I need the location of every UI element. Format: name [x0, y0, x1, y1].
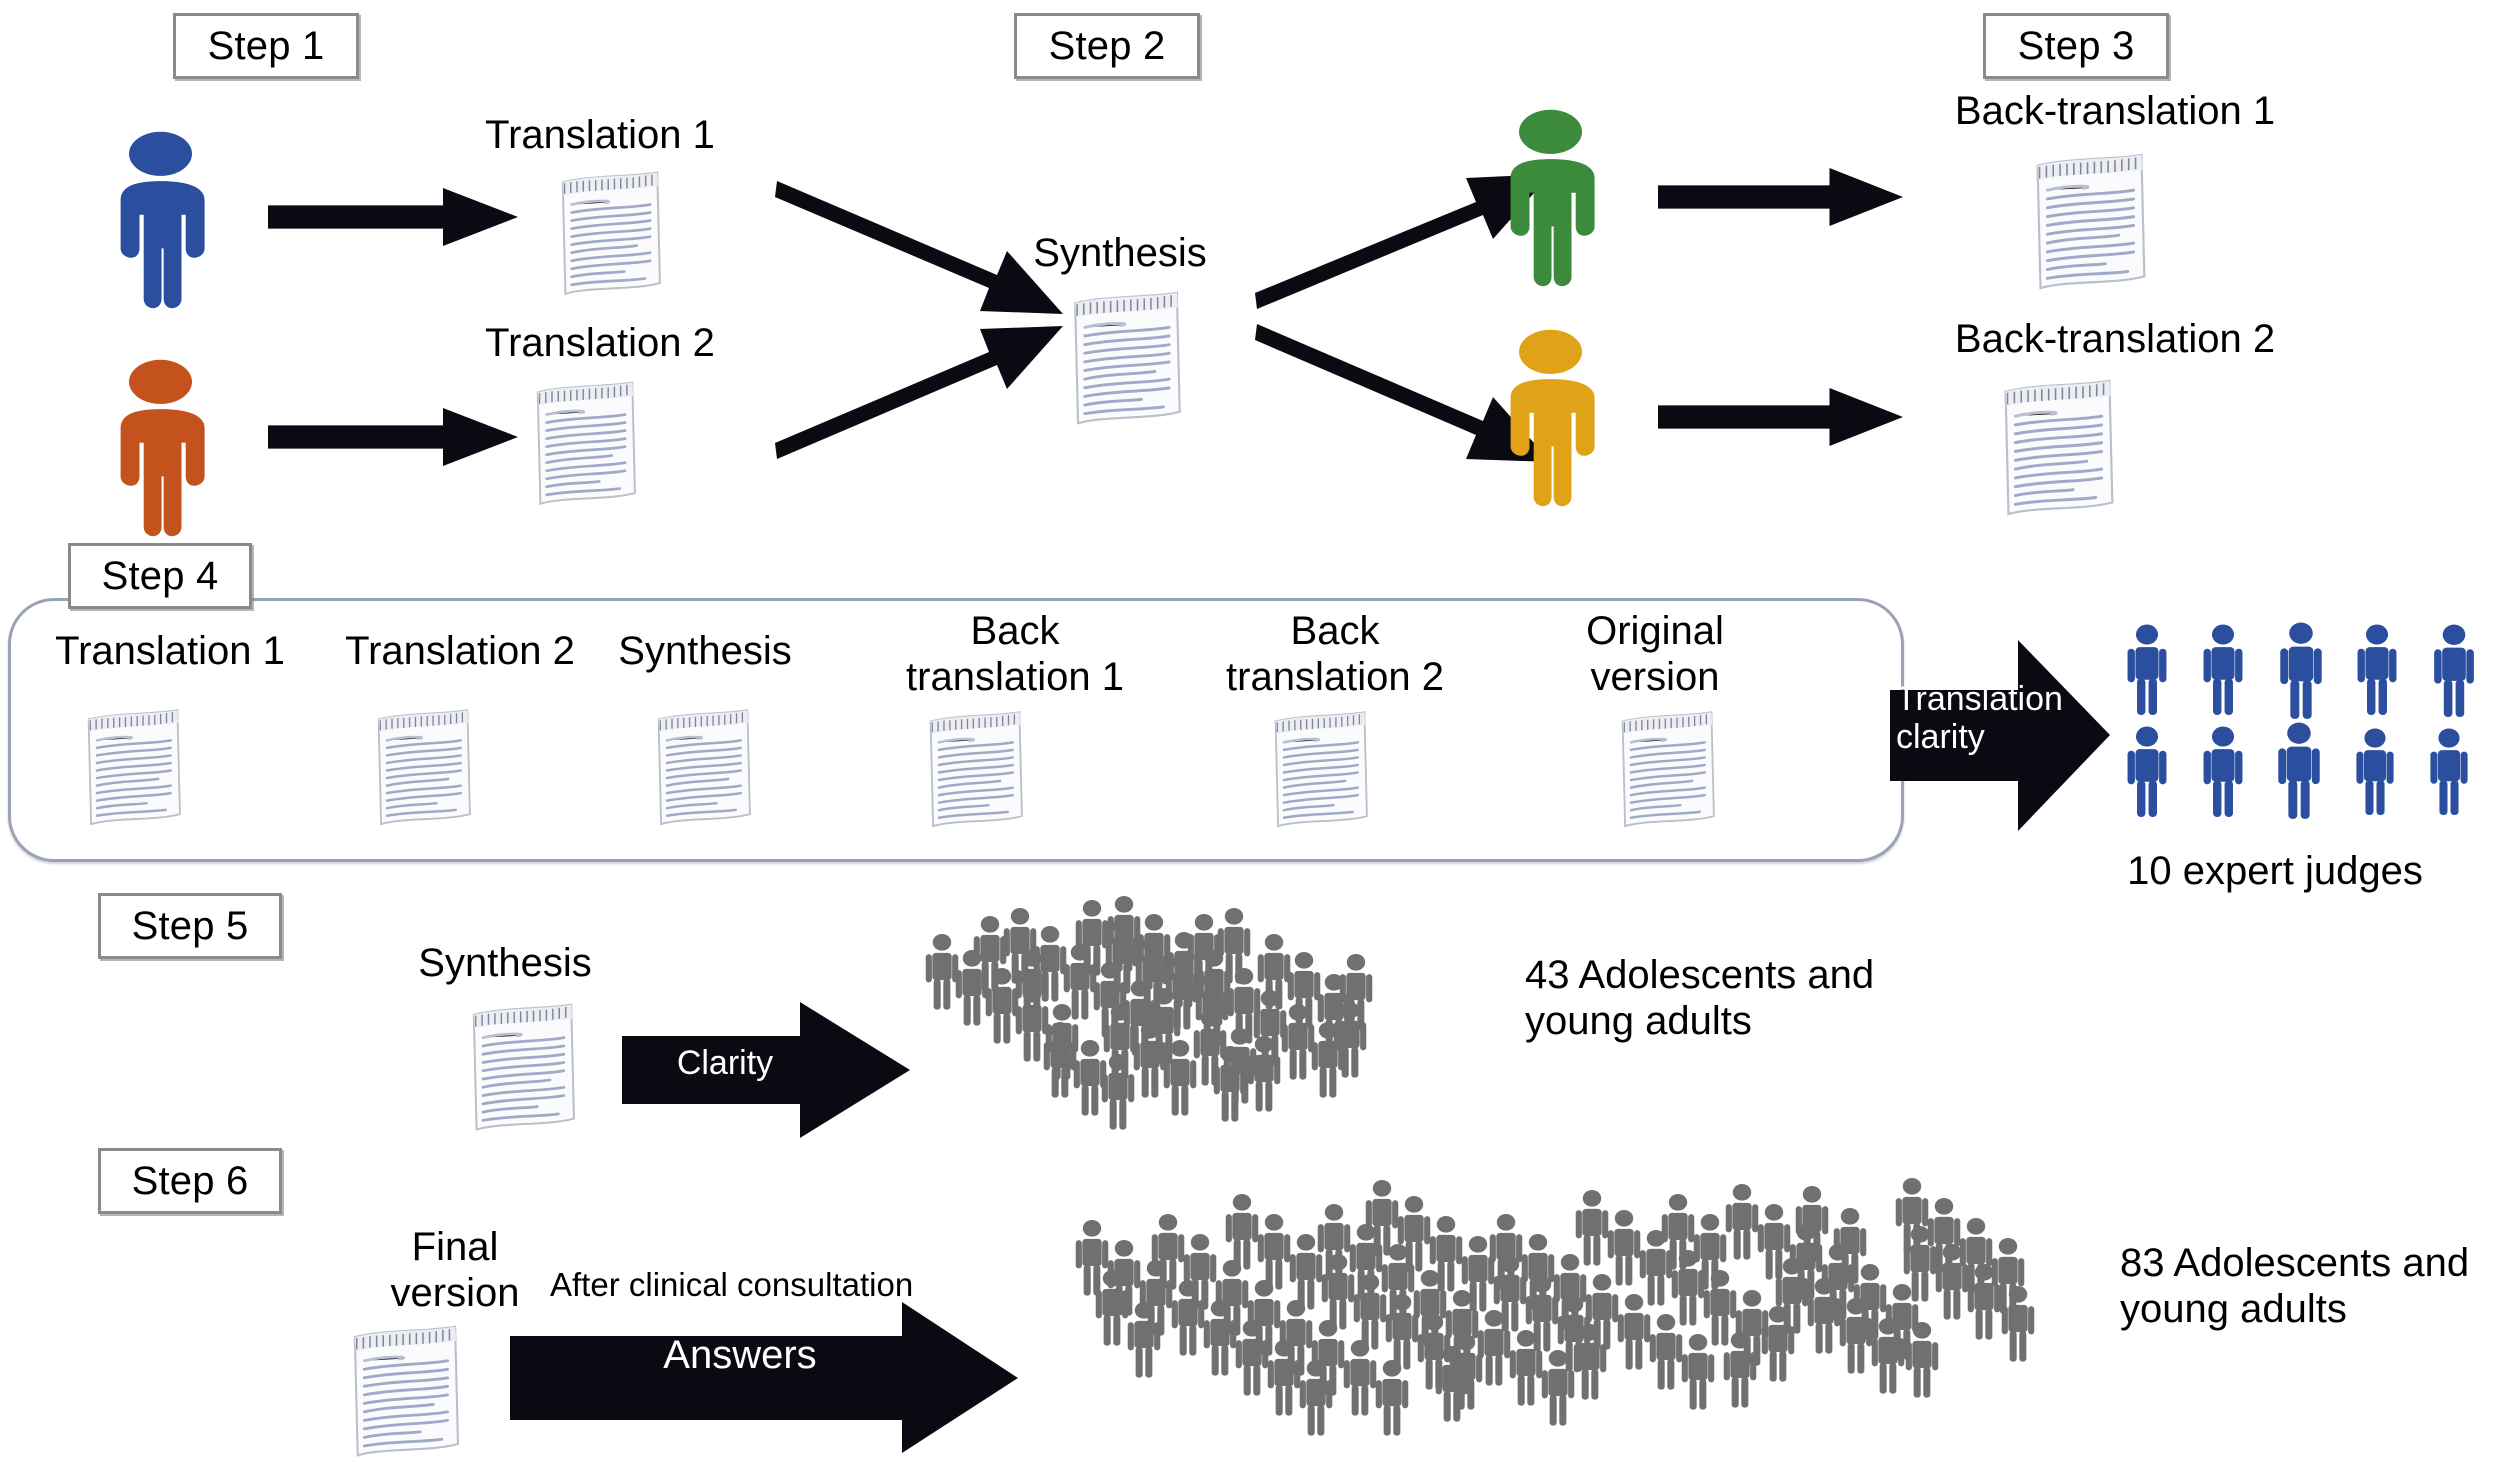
- step4-item-0-document-icon: [58, 706, 208, 830]
- arrow-translator1-to-translation1: [268, 188, 518, 246]
- back-translation-1-label: Back-translation 1: [1880, 88, 2350, 134]
- step-box-4: Step 4: [68, 543, 252, 609]
- back-translation-2-label: Back-translation 2: [1880, 316, 2350, 362]
- step4-item-4-label: Back translation 2: [1175, 608, 1495, 700]
- arrow-backtranslator2-to-backtranslation2: [1658, 388, 1903, 446]
- step4-item-3-label: Back translation 1: [855, 608, 1175, 700]
- step-box-3: Step 3: [1983, 13, 2169, 79]
- arrow-backtranslator1-to-backtranslation1: [1658, 168, 1903, 226]
- step4-item-0-label: Translation 1: [20, 628, 320, 674]
- step4-item-5-document-icon: [1592, 708, 1742, 832]
- arrow-translation2-to-synthesis: [775, 320, 1065, 465]
- step6-participants-group: [1030, 1170, 2050, 1462]
- step5-doc-label: Synthesis: [330, 940, 680, 986]
- flowchart-canvas: Step 1 Step 2 Step 3 Step 4 Step 5 Step …: [0, 0, 2508, 1462]
- back-translation-1-document-icon: [2002, 150, 2177, 295]
- step-box-6: Step 6: [98, 1148, 282, 1214]
- step5-participants-caption: 43 Adolescents and young adults: [1525, 952, 2085, 1044]
- step6-participants-caption: 83 Adolescents and young adults: [2120, 1240, 2508, 1332]
- back-translation-2-document-icon: [1970, 376, 2145, 521]
- expert-judges-caption: 10 expert judges: [2045, 848, 2505, 894]
- step4-item-4-document-icon: [1245, 708, 1395, 832]
- translator-2-person-icon: [108, 358, 213, 538]
- arrow-translation-clarity: [1890, 638, 2112, 833]
- translation-1-label: Translation 1: [440, 112, 760, 158]
- arrow-answers: [510, 1300, 1020, 1455]
- step4-item-2-document-icon: [628, 706, 778, 830]
- step-box-2: Step 2: [1014, 13, 1200, 79]
- step4-item-3-document-icon: [900, 708, 1050, 832]
- step4-item-5-label: Original version: [1495, 608, 1815, 700]
- expert-judges-group: [2115, 622, 2505, 822]
- step4-item-2-label: Synthesis: [565, 628, 845, 674]
- back-translator-1-person-icon: [1498, 108, 1603, 288]
- step4-item-1-document-icon: [348, 706, 498, 830]
- step5-participants-group: [910, 890, 1490, 1140]
- translation-2-label: Translation 2: [440, 320, 760, 366]
- step-box-5: Step 5: [98, 893, 282, 959]
- arrow-clarity: [622, 1000, 912, 1140]
- step-box-1: Step 1: [173, 13, 359, 79]
- synthesis-label: Synthesis: [960, 230, 1280, 276]
- translation-1-document-icon: [530, 168, 690, 300]
- translation-2-document-icon: [505, 378, 665, 510]
- translator-1-person-icon: [108, 130, 213, 310]
- arrow-answers-top-label: After clinical consultation: [550, 1266, 913, 1304]
- arrow-translator2-to-translation2: [268, 408, 518, 466]
- back-translator-2-person-icon: [1498, 328, 1603, 508]
- synthesis-document-icon: [1040, 288, 1212, 430]
- step6-final-version-document-icon: [320, 1322, 490, 1462]
- step5-synthesis-document-icon: [440, 1000, 605, 1136]
